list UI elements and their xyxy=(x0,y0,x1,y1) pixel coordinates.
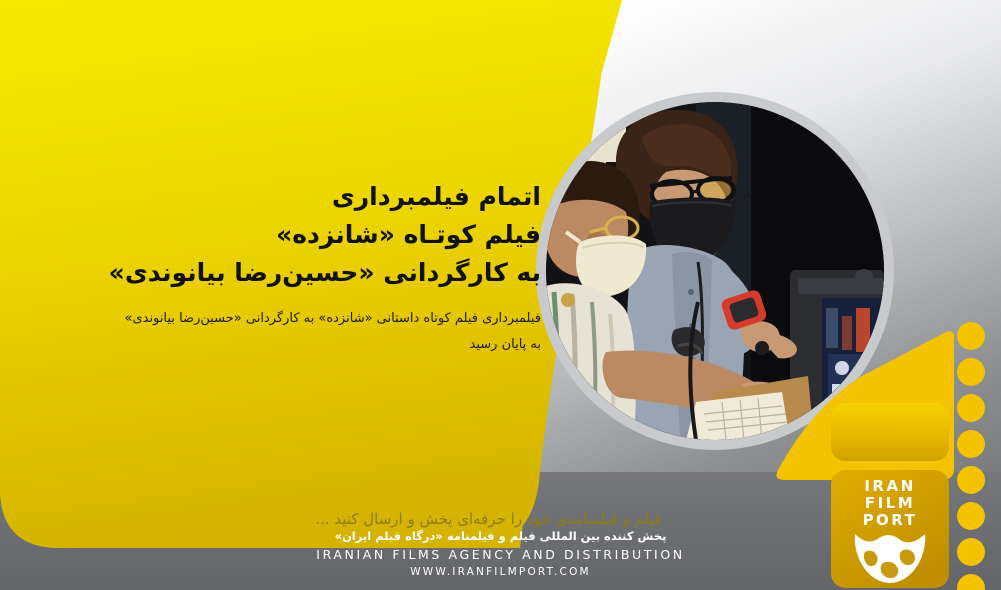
subheadline-line-1: فیلمبرداری فیلم کوتاه داستانی «شانزده» ب… xyxy=(61,306,541,332)
film-perforation-dot xyxy=(957,394,985,422)
subheadline-line-2: به پایان رسید xyxy=(61,332,541,358)
film-perforation-dot xyxy=(957,322,985,350)
headline-line-3: به کارگردانی «حسین‌رضا بیانوندی» xyxy=(61,254,541,292)
film-strip-rect-top xyxy=(831,403,949,461)
logo-wordmark: IRAN FILM PORT xyxy=(831,478,949,529)
film-perforation-dot xyxy=(957,466,985,494)
footer-website-url[interactable]: WWW.IRANFILMPORT.COM xyxy=(0,564,1001,580)
film-perforation-dot xyxy=(957,358,985,386)
footer: پخش کننده بین المللی فیلم و فیلمنامه «در… xyxy=(0,528,1001,580)
logo-line-port: PORT xyxy=(831,512,949,529)
call-to-action-tagline: فیلم و فیلمنامه‌ی خود را حرفه‌ای پخش و ا… xyxy=(141,508,661,530)
footer-english-line: IRANIAN FILMS AGENCY AND DISTRIBUTION xyxy=(0,545,1001,564)
subheadline: فیلمبرداری فیلم کوتاه داستانی «شانزده» ب… xyxy=(61,306,541,358)
film-perforation-dot xyxy=(957,502,985,530)
film-perforation-dot xyxy=(957,430,985,458)
logo-line-film: FILM xyxy=(831,495,949,512)
logo-line-iran: IRAN xyxy=(831,478,949,495)
footer-persian-line: پخش کننده بین المللی فیلم و فیلمنامه «در… xyxy=(0,528,1001,545)
headline-line-2: فیلم کوتـاه «شانزده» xyxy=(61,216,541,254)
poster-canvas: IRAN FILM PORT اتمام فیلمبرداری فیلم کوت… xyxy=(0,0,1001,590)
headline-line-1: اتمام فیلمبرداری xyxy=(61,178,541,216)
headline: اتمام فیلمبرداری فیلم کوتـاه «شانزده» به… xyxy=(61,178,541,292)
set-photo xyxy=(546,102,884,440)
